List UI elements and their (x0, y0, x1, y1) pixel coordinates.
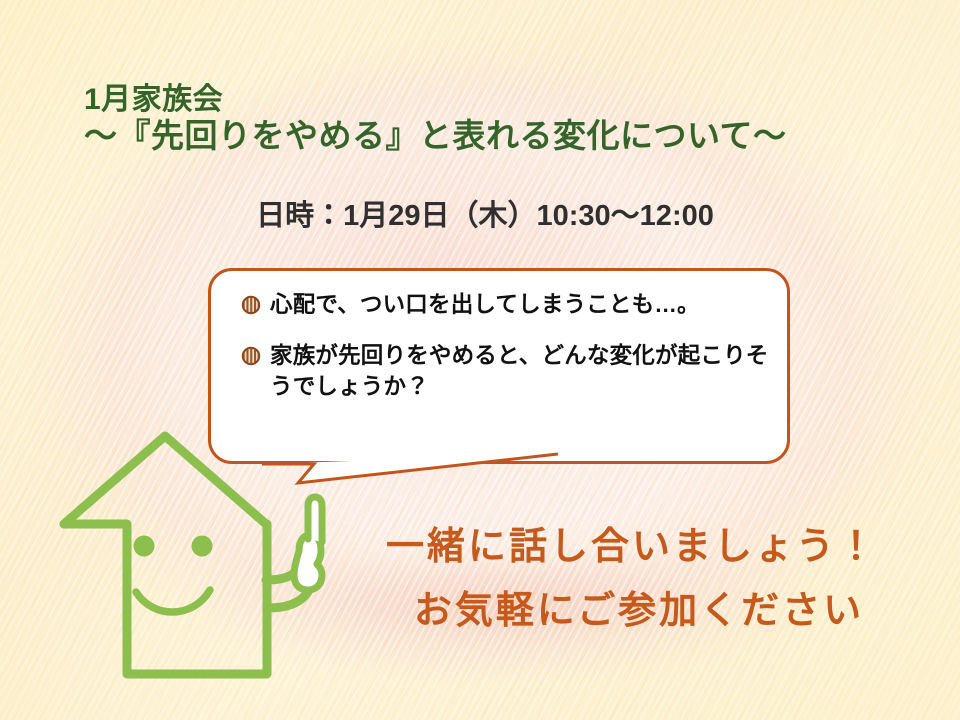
striped-circle-icon (241, 295, 261, 315)
list-item: 家族が先回りをやめると、どんな変化が起こりそうでしょうか？ (241, 340, 771, 402)
house-eye-right (192, 536, 213, 557)
list-item-label: 心配で、つい口を出してしまうことも…。 (270, 289, 700, 320)
list-item-label: 家族が先回りをやめると、どんな変化が起こりそうでしょうか？ (270, 340, 771, 402)
striped-circle-icon (241, 346, 261, 366)
speech-bubble-list: 心配で、つい口を出してしまうことも…。 (241, 289, 771, 402)
cta-line-2: お気軽にご参加ください (352, 592, 912, 630)
smiling-house-icon (16, 420, 356, 690)
list-item: 心配で、つい口を出してしまうことも…。 (241, 289, 771, 320)
event-datetime: 日時：1月29日（木）10:30〜12:00 (0, 192, 960, 234)
title-line-2: 〜『先回りをやめる』と表れる変化について〜 (84, 117, 884, 156)
house-eye-left (134, 536, 155, 557)
call-to-action: 一緒に話し合いましょう！ お気軽にご参加ください (352, 528, 912, 630)
poster-canvas: 1月家族会 〜『先回りをやめる』と表れる変化について〜 日時：1月29日（木）1… (0, 0, 960, 720)
cta-line-1: 一緒に話し合いましょう！ (352, 528, 912, 566)
house-smile (136, 590, 210, 612)
title-line-1: 1月家族会 (84, 82, 884, 117)
page-title: 1月家族会 〜『先回りをやめる』と表れる変化について〜 (84, 82, 884, 156)
